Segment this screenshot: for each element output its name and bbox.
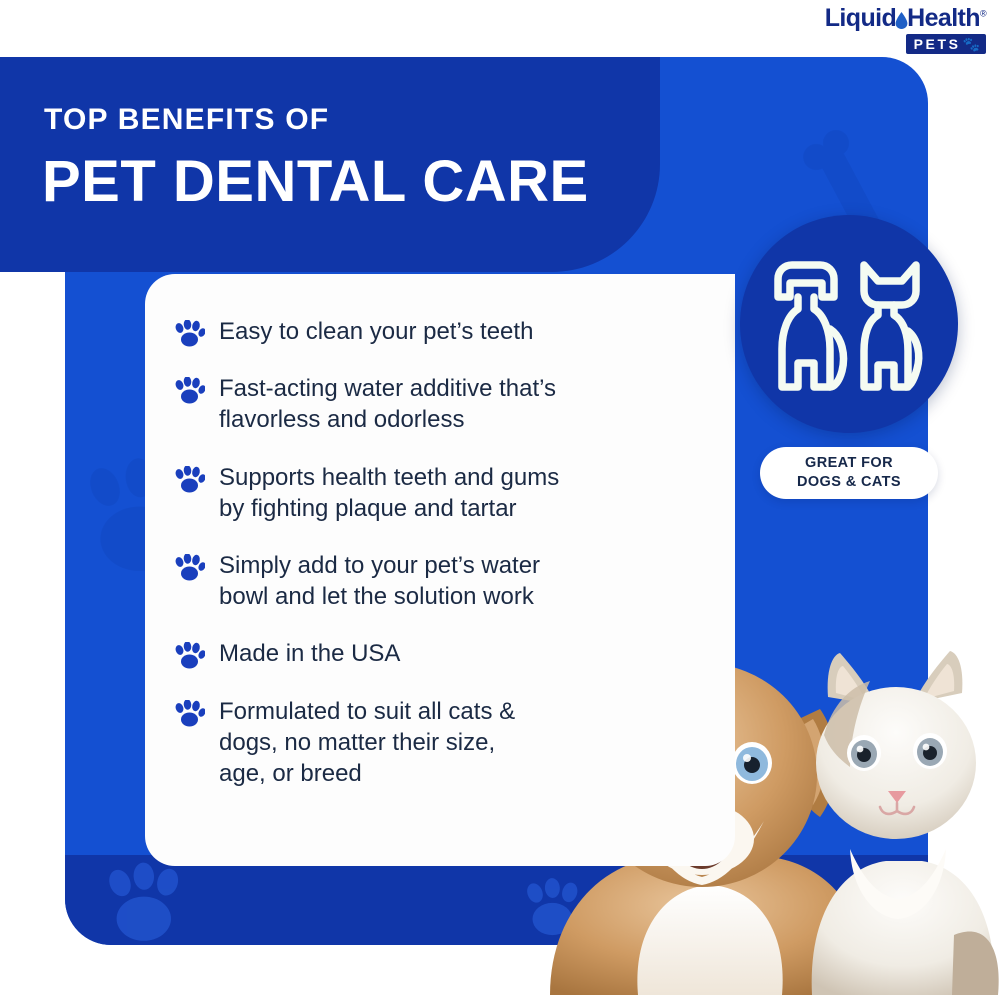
list-item-label: Fast-acting water additive that’s flavor… (219, 373, 556, 435)
badge-line-2: DOGS & CATS (797, 473, 901, 492)
paw-glyph-icon: 🐾 (963, 36, 980, 52)
list-item-label: Easy to clean your pet’s teeth (219, 316, 533, 347)
infographic-canvas: TOP BENEFITS OF PET DENTAL CARE Easy to … (0, 0, 1000, 995)
brand-name-part2: Health (907, 4, 980, 32)
paw-print-icon (175, 700, 205, 727)
paw-print-icon (175, 466, 205, 493)
benefits-card: Easy to clean your pet’s teeth Fast-acti… (145, 274, 735, 866)
list-item-label: Simply add to your pet’s water bowl and … (219, 550, 540, 612)
paw-print-icon (175, 554, 205, 581)
dog-and-cat-outline-icon (768, 251, 930, 401)
badge-line-1: GREAT FOR (805, 454, 893, 473)
paw-print-icon (175, 320, 205, 347)
page-title: PET DENTAL CARE (42, 153, 589, 211)
list-item: Simply add to your pet’s water bowl and … (175, 550, 675, 612)
dog-and-cat-emblem (740, 215, 958, 433)
list-item: Fast-acting water additive that’s flavor… (175, 373, 675, 435)
status-badge: GREAT FOR DOGS & CATS (760, 447, 938, 499)
brand-sub-label-text: PETS (914, 36, 961, 52)
list-item-label: Formulated to suit all cats & dogs, no m… (219, 696, 515, 790)
header-band: TOP BENEFITS OF PET DENTAL CARE (0, 57, 660, 272)
paw-print-icon (175, 642, 205, 669)
kicker-text: TOP BENEFITS OF (44, 105, 329, 135)
trademark-symbol: ® (980, 9, 986, 19)
water-drop-icon (895, 12, 908, 29)
list-item-label: Supports health teeth and gums by fighti… (219, 462, 559, 524)
list-item: Supports health teeth and gums by fighti… (175, 462, 675, 524)
paw-print-icon (175, 377, 205, 404)
list-item: Easy to clean your pet’s teeth (175, 316, 675, 347)
list-item-label: Made in the USA (219, 638, 400, 669)
brand-wordmark: LiquidHealth® (818, 6, 986, 31)
brand-sub-label: PETS🐾 (906, 34, 986, 54)
brand-logo: LiquidHealth® PETS🐾 (818, 6, 986, 54)
brand-name-part1: Liquid (825, 4, 896, 32)
list-item: Made in the USA (175, 638, 675, 669)
benefits-list: Easy to clean your pet’s teeth Fast-acti… (175, 316, 675, 815)
cat-illustration (812, 651, 999, 995)
list-item: Formulated to suit all cats & dogs, no m… (175, 696, 675, 790)
